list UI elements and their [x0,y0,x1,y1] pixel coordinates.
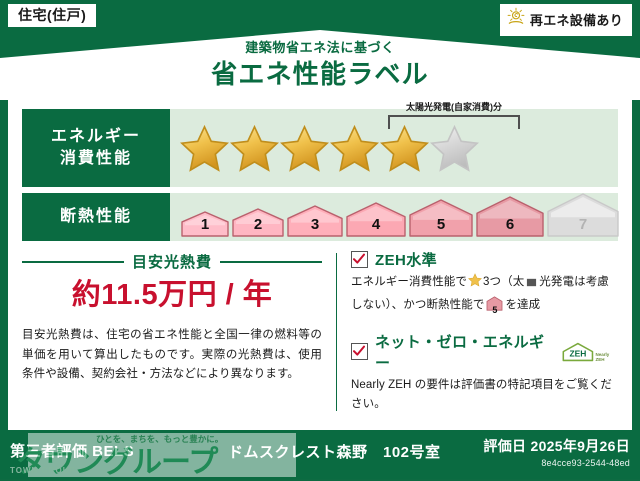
zeh-standard-title: ZEH水準 [375,249,437,270]
insulation-grade-number: 2 [231,216,285,233]
lower-section: 目安光熱費 約11.5万円 / 年 目安光熱費は、住宅の省エネ性能と全国一律の燃… [22,249,618,417]
insulation-grade-number: 4 [345,216,407,233]
energy-stars-panel: 太陽光発電(自家消費)分 [170,109,618,187]
energy-performance-label: エネルギー 消費性能 [22,109,170,187]
heading-rule-left [22,261,124,263]
star-filled-icon [380,124,429,173]
zeh-standard-block: ZEH水準 エネルギー消費性能で 3つ（太 光発電は考慮しない）、かつ断熱性能で… [351,249,618,319]
zeh-desc-part1: エネルギー消費性能で [351,276,467,288]
zeh-house-logo: ZEH Nearly ZEH [561,341,618,363]
zeh-desc-part3: を達成 [505,299,540,311]
utility-cost-heading: 目安光熱費 [22,251,322,272]
evaluation-id: 8e4cce93-2544-48ed [483,458,630,468]
star-rating [180,109,614,187]
zeh-standard-checkbox[interactable] [351,251,368,268]
zeh-logo-subtext: Nearly ZEH [595,353,618,362]
svg-text:ZEH: ZEH [569,348,586,358]
zeh-desc-star-count: 3つ（太 [483,276,524,288]
check-icon [353,253,365,265]
utility-cost-note: 目安光熱費は、住宅の省エネ性能と全国一律の燃料等の単価を用いて算出したものです。… [22,326,322,385]
insulation-grade-6: 6 [475,196,545,237]
renewable-equipment-badge: 再エネ設備あり [500,4,632,36]
insulation-grade-3: 3 [286,205,344,237]
energy-label-line2: 消費性能 [60,150,132,167]
star-filled-icon [230,124,279,173]
zeh-standard-description: エネルギー消費性能で 3つ（太 光発電は考慮しない）、かつ断熱性能で 5 を達成 [351,273,618,319]
inline-solar-block-icon [526,276,537,296]
star-filled-icon [280,124,329,173]
label-body-card: エネルギー 消費性能 太陽光発電(自家消費)分 断熱性能 1234567 [8,93,632,430]
net-zero-title-row: ネット・ゼロ・エネルギー ZEH Nearly ZEH [351,331,618,373]
star-filled-icon [180,124,229,173]
insulation-grade-number: 1 [180,216,230,233]
column-divider [336,253,337,411]
title-subtitle: 建築物省エネ法に基づく [0,40,640,57]
net-zero-description: Nearly ZEH の要件は評価書の特記項目をご覧ください。 [351,376,618,416]
energy-performance-row: エネルギー 消費性能 太陽光発電(自家消費)分 [22,109,618,187]
renewable-badge-label: 再エネ設備あり [530,10,623,29]
inline-grade-house-icon: 5 [486,296,503,319]
insulation-grades-panel: 1234567 [170,193,618,241]
utility-cost-heading-text: 目安光熱費 [132,251,212,272]
insulation-grade-number: 7 [546,216,620,233]
insulation-grade-7: 7 [546,193,620,237]
net-zero-title: ネット・ゼロ・エネルギー [375,331,549,373]
insulation-grade-number: 6 [475,216,545,233]
zeh-standard-title-row: ZEH水準 [351,249,618,270]
property-name: ドムスクレスト森野 102号室 [228,441,441,462]
star-empty-icon [430,124,479,173]
insulation-grade-number: 5 [408,216,474,233]
utility-cost-column: 目安光熱費 約11.5万円 / 年 目安光熱費は、住宅の省エネ性能と全国一律の燃… [22,249,322,417]
insulation-grade-4: 4 [345,202,407,237]
insulation-grade-scale: 1234567 [180,193,614,241]
evaluation-date: 評価日 2025年9月26日 [483,436,630,456]
solar-sun-icon [506,7,526,32]
insulation-grade-number: 3 [286,216,344,233]
insulation-performance-row: 断熱性能 1234567 [22,193,618,241]
insulation-grade-2: 2 [231,208,285,237]
inline-star-icon [468,273,482,295]
label-footer: 第三者評価 BELS ドムスクレスト森野 102号室 評価日 2025年9月26… [0,430,640,479]
label-header: 住宅(住戸) 再エネ [0,0,640,100]
title-main: 省エネ性能ラベル [0,58,640,91]
check-icon [353,345,365,357]
utility-cost-value: 約11.5万円 / 年 [22,280,322,312]
insulation-performance-label: 断熱性能 [22,193,170,241]
evaluation-info: 評価日 2025年9月26日 8e4cce93-2544-48ed [483,436,630,468]
energy-performance-label: 住宅(住戸) 再エネ [0,0,640,479]
inline-grade-number: 5 [486,303,503,318]
house-type-tag: 住宅(住戸) [8,4,96,27]
label-title-group: 建築物省エネ法に基づく 省エネ性能ラベル [0,40,640,90]
bels-third-party-label: 第三者評価 BELS [10,440,134,461]
net-zero-checkbox[interactable] [351,343,368,360]
insulation-grade-5: 5 [408,199,474,237]
energy-label-line1: エネルギー [51,128,141,145]
star-filled-icon [330,124,379,173]
insulation-grade-1: 1 [180,211,230,237]
zeh-column: ZEH水準 エネルギー消費性能で 3つ（太 光発電は考慮しない）、かつ断熱性能で… [351,249,618,417]
net-zero-energy-block: ネット・ゼロ・エネルギー ZEH Nearly ZEH Nearly ZEH の… [351,331,618,416]
heading-rule-right [220,261,322,263]
